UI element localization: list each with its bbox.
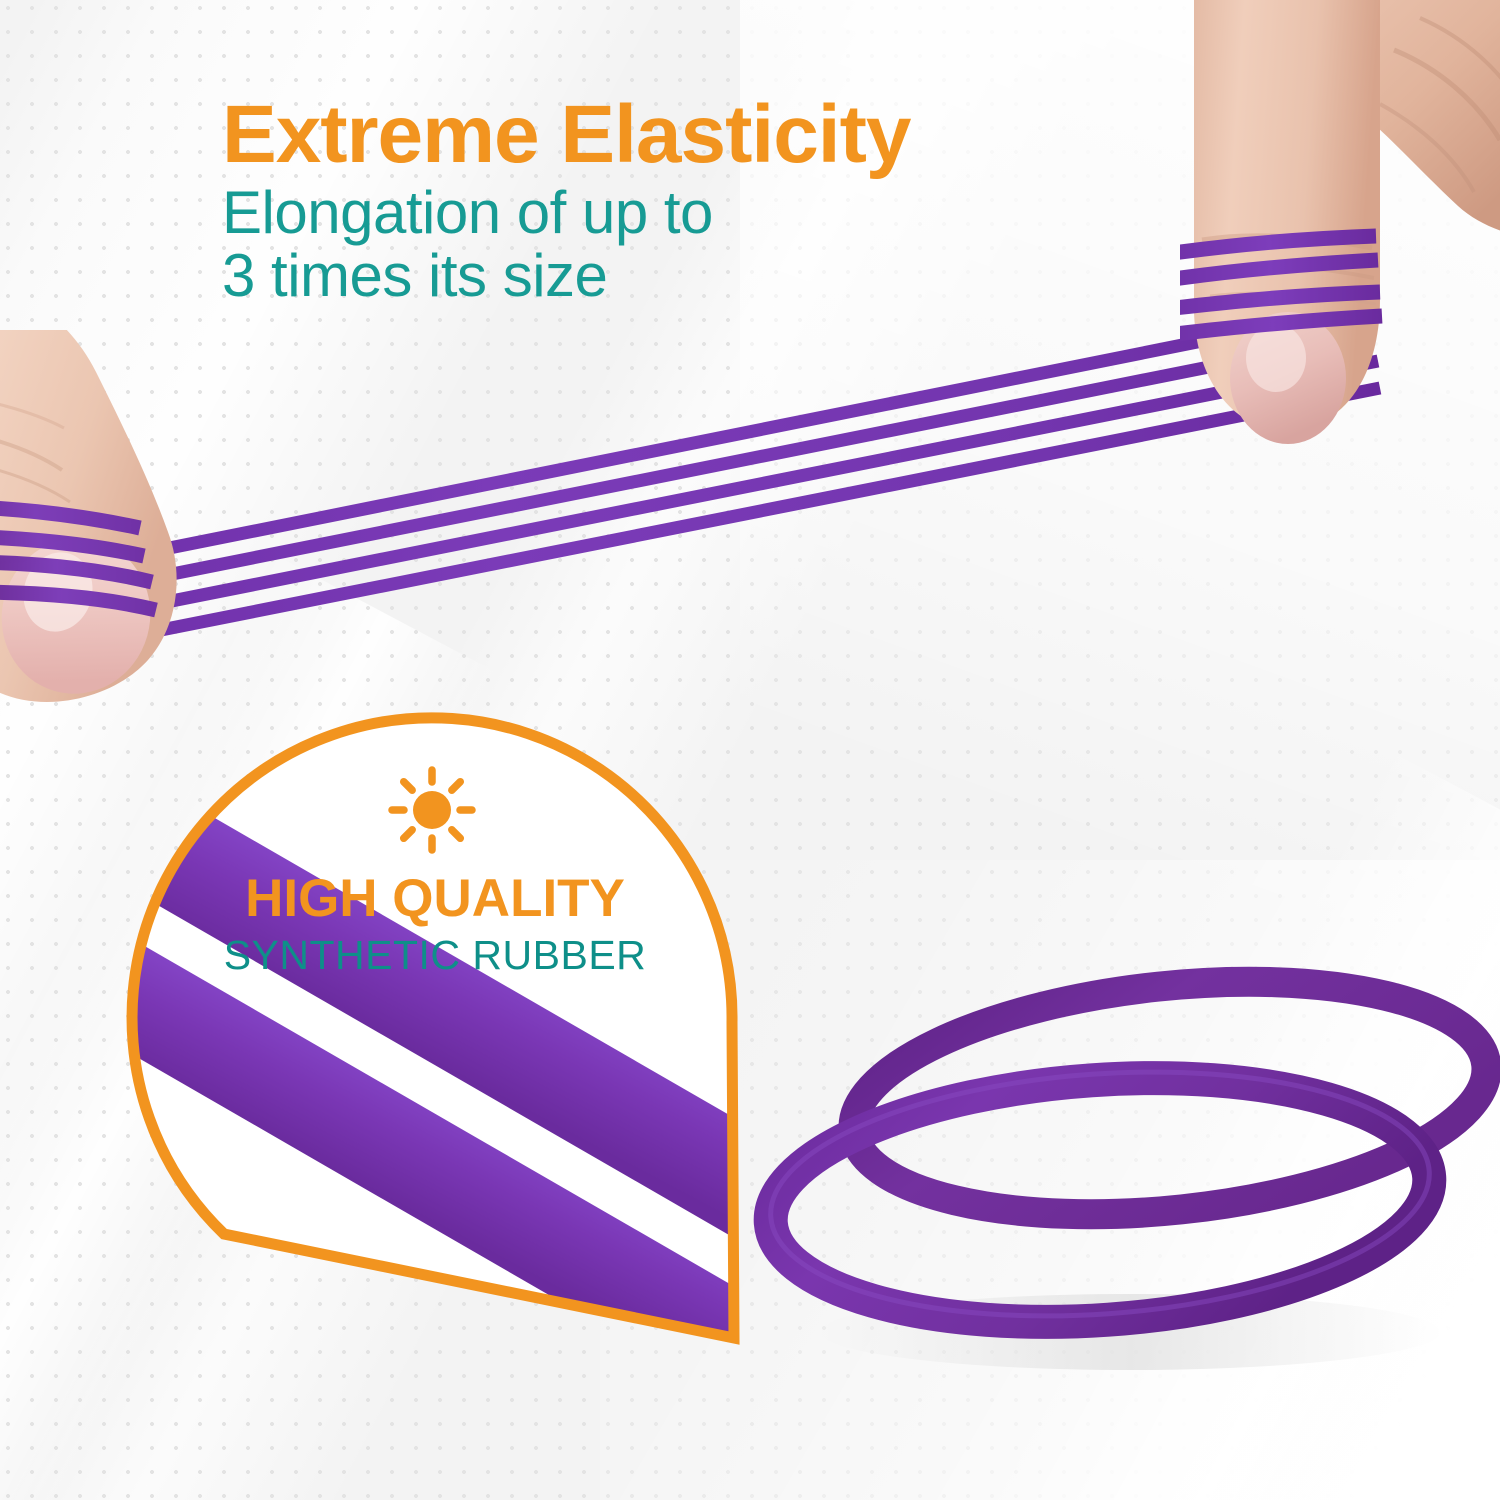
headline-subtitle: Elongation of up to 3 times its size (222, 181, 1122, 308)
index-finger (1194, 0, 1380, 444)
headline-subtitle-line-2: 3 times its size (222, 244, 1122, 308)
left-hand (0, 330, 350, 760)
loose-rubber-band-loops (700, 960, 1500, 1420)
fingernail-highlight (1246, 324, 1306, 392)
high-quality-badge: HIGH QUALITY SYNTHETIC RUBBER (112, 712, 752, 1352)
product-feature-image: Extreme Elasticity Elongation of up to 3… (0, 0, 1500, 1500)
badge-icon-wrap (112, 764, 752, 861)
sun-icon (386, 764, 478, 856)
headline-title: Extreme Elasticity (222, 96, 1122, 175)
right-hand (1180, 0, 1500, 520)
headline-block: Extreme Elasticity Elongation of up to 3… (222, 96, 1122, 308)
headline-subtitle-line-1: Elongation of up to (222, 179, 713, 246)
